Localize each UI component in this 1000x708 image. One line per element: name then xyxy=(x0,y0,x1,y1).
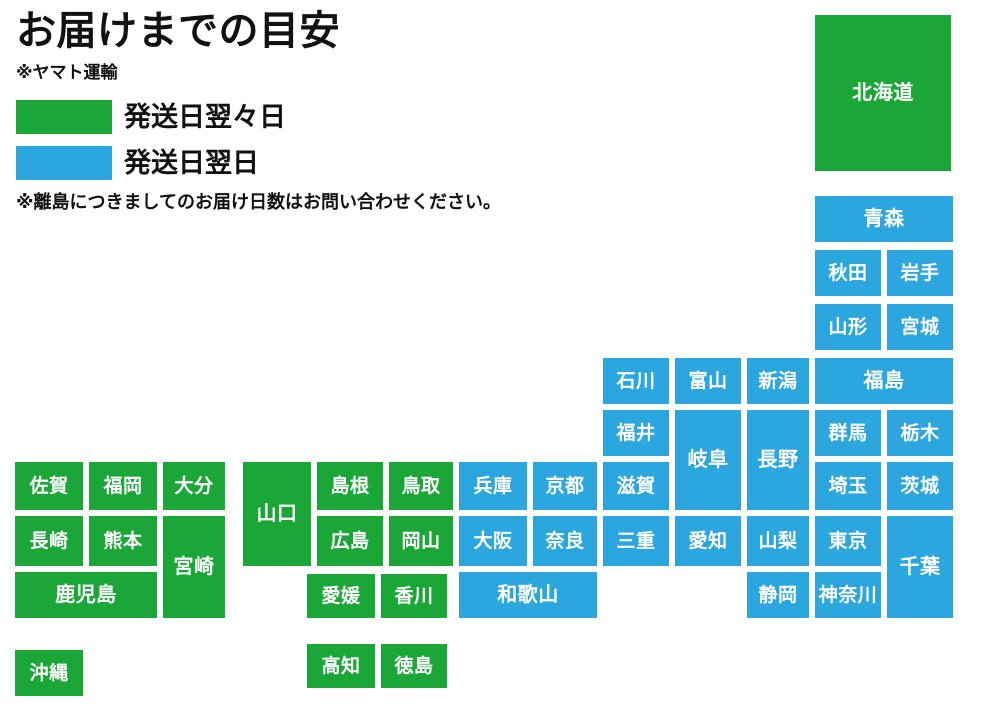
prefecture-tile[interactable]: 佐賀 xyxy=(13,460,85,512)
prefecture-tile[interactable]: 鹿児島 xyxy=(13,570,159,620)
prefecture-tile[interactable]: 高知 xyxy=(305,642,377,690)
prefecture-tile[interactable]: 兵庫 xyxy=(457,460,529,512)
legend-swatch-next_day xyxy=(16,146,112,180)
prefecture-tile[interactable]: 奈良 xyxy=(531,514,599,568)
prefecture-tile[interactable]: 京都 xyxy=(531,460,599,512)
prefecture-tile[interactable]: 広島 xyxy=(315,514,385,568)
legend-swatch-two_days xyxy=(16,100,112,134)
prefecture-tile[interactable]: 東京 xyxy=(813,514,883,568)
prefecture-tile[interactable]: 愛媛 xyxy=(305,572,377,620)
page-title: お届けまでの目安 xyxy=(16,10,340,52)
prefecture-tile[interactable]: 岩手 xyxy=(885,248,955,298)
prefecture-tile[interactable]: 栃木 xyxy=(885,408,955,458)
prefecture-tile[interactable]: 千葉 xyxy=(885,514,955,620)
prefecture-tile[interactable]: 静岡 xyxy=(745,570,811,620)
prefecture-tile[interactable]: 滋賀 xyxy=(601,460,671,512)
prefecture-tile[interactable]: 岐阜 xyxy=(673,408,743,512)
remote-island-note: ※離島につきましてのお届け日数はお問い合わせください。 xyxy=(16,188,501,214)
prefecture-tile[interactable]: 徳島 xyxy=(379,642,449,690)
prefecture-tile[interactable]: 群馬 xyxy=(813,408,883,458)
legend-label-two_days: 発送日翌々日 xyxy=(124,104,286,131)
prefecture-tile[interactable]: 山形 xyxy=(813,302,883,352)
prefecture-tile[interactable]: 三重 xyxy=(601,514,671,568)
prefecture-tile[interactable]: 富山 xyxy=(673,356,743,406)
prefecture-tile[interactable]: 長崎 xyxy=(13,514,85,568)
prefecture-tile[interactable]: 山梨 xyxy=(745,514,811,568)
prefecture-tile[interactable]: 島根 xyxy=(315,460,385,512)
delivery-estimate-map: お届けまでの目安 ※ヤマト運輸 発送日翌々日発送日翌日 ※離島につきましてのお届… xyxy=(0,0,1000,708)
prefecture-tile[interactable]: 福島 xyxy=(813,356,955,406)
prefecture-tile[interactable]: 香川 xyxy=(379,572,449,620)
prefecture-tile[interactable]: 福井 xyxy=(601,408,671,458)
prefecture-tile[interactable]: 福岡 xyxy=(87,460,159,512)
prefecture-tile[interactable]: 神奈川 xyxy=(813,570,883,620)
prefecture-tile[interactable]: 宮城 xyxy=(885,302,955,352)
prefecture-tile[interactable]: 和歌山 xyxy=(457,570,599,620)
prefecture-tile[interactable]: 北海道 xyxy=(813,13,953,173)
prefecture-tile[interactable]: 新潟 xyxy=(745,356,811,406)
prefecture-tile[interactable]: 青森 xyxy=(813,194,955,244)
carrier-subtitle: ※ヤマト運輸 xyxy=(16,58,118,83)
prefecture-tile[interactable]: 岡山 xyxy=(387,514,455,568)
prefecture-tile[interactable]: 宮崎 xyxy=(161,514,227,620)
prefecture-tile[interactable]: 秋田 xyxy=(813,248,883,298)
prefecture-tile[interactable]: 鳥取 xyxy=(387,460,455,512)
prefecture-tile[interactable]: 茨城 xyxy=(885,460,955,512)
prefecture-tile[interactable]: 山口 xyxy=(241,460,313,568)
prefecture-tile[interactable]: 埼玉 xyxy=(813,460,883,512)
prefecture-tile[interactable]: 愛知 xyxy=(673,514,743,568)
prefecture-tile[interactable]: 熊本 xyxy=(87,514,159,568)
prefecture-tile[interactable]: 大分 xyxy=(161,460,227,512)
prefecture-tile[interactable]: 大阪 xyxy=(457,514,529,568)
prefecture-tile[interactable]: 石川 xyxy=(601,356,671,406)
prefecture-tile[interactable]: 沖縄 xyxy=(13,648,85,698)
prefecture-tile[interactable]: 長野 xyxy=(745,408,811,512)
legend-label-next_day: 発送日翌日 xyxy=(124,150,259,177)
